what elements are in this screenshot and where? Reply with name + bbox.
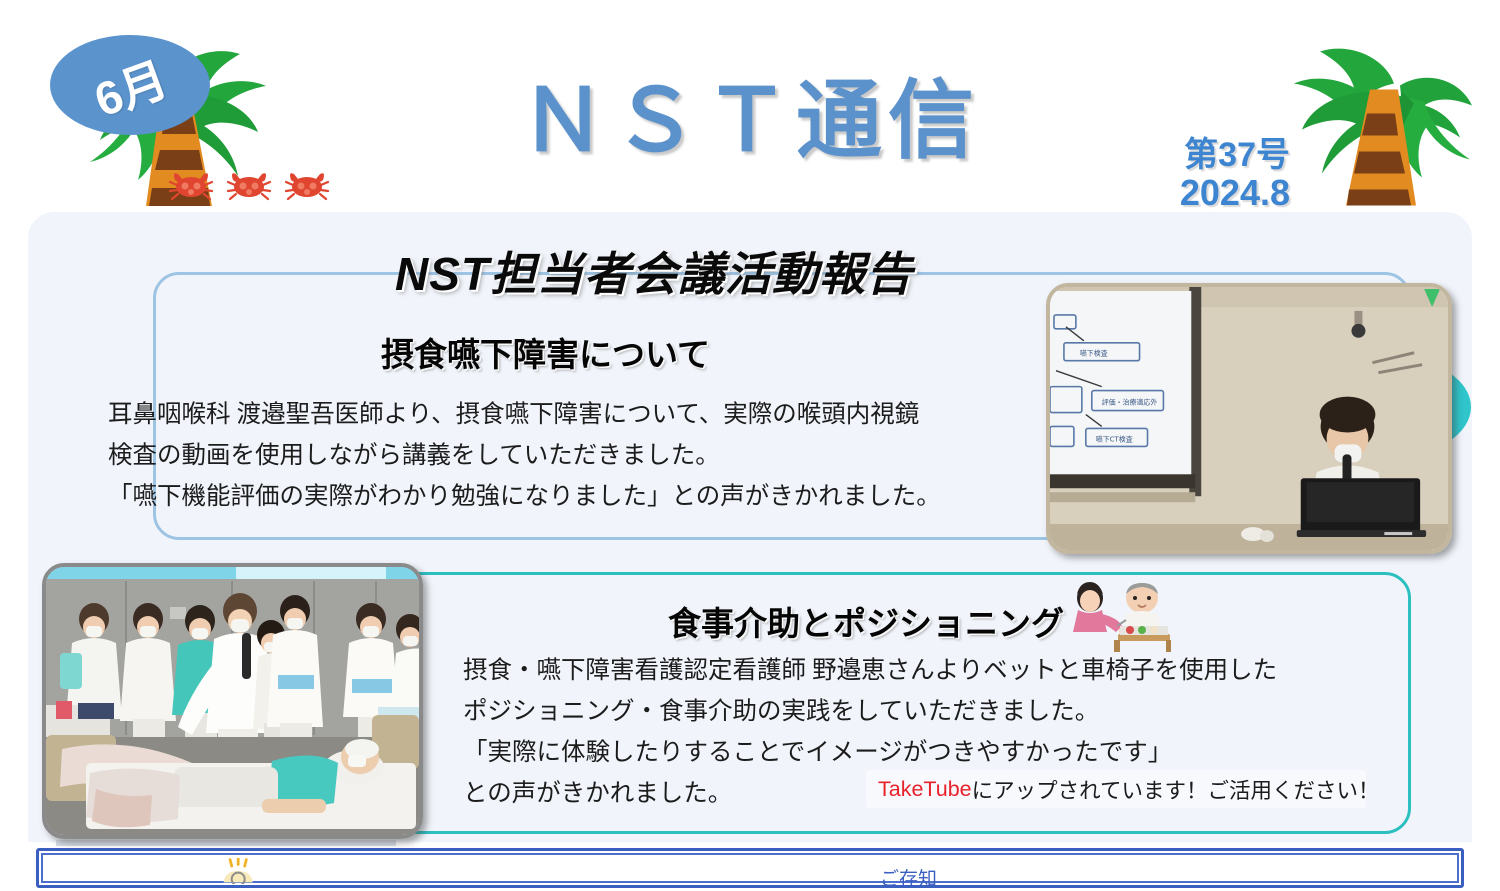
bottom-partial-text: ご存知 (880, 864, 937, 891)
july-body-line: 「実際に体験したりすることでイメージがつきやすかったです」 (463, 732, 1277, 773)
issue-date: 2024.8 (1090, 174, 1290, 212)
feeding-icon (1062, 582, 1172, 654)
panel-edge-strip (56, 840, 396, 846)
issue-number: 第37号 (1090, 138, 1290, 174)
badge-june-label: 6月 (84, 40, 176, 130)
june-lecture-photo: 嚥下検査 評価・治療適応外 嚥下CT検査 (1046, 283, 1452, 554)
newsletter-header: ＮＳＴ通信 第37号 2024.8 (0, 0, 1500, 212)
june-body-line: 「嚥下機能評価の実際がわかり勉強になりました」との声がきかれました。 (108, 476, 941, 517)
taketube-note-text: にアップされています！ご活用ください！ (972, 774, 1380, 805)
taketube-note: TakeTubeにアップされています！ご活用ください！ (866, 770, 1366, 808)
section-title: NST担当者会議活動報告 (395, 238, 913, 304)
svg-text:嚥下CT検査: 嚥下CT検査 (1096, 434, 1133, 443)
taketube-brand: TakeTube (878, 777, 972, 802)
crab-icon (226, 160, 272, 202)
lightbulb-icon (210, 858, 268, 884)
photo-content (46, 567, 419, 835)
crab-icon (284, 160, 330, 202)
crab-icon (168, 160, 214, 202)
lightbulb-idea-icon (210, 858, 268, 889)
june-body-line: 検査の動画を使用しながら講義をしていただきました。 (108, 435, 941, 476)
june-heading: 摂食嚥下障害について (381, 328, 710, 376)
page-title: ＮＳＴ通信 (440, 78, 1060, 164)
svg-text:評価・治療適応外: 評価・治療適応外 (1102, 398, 1158, 407)
july-body-line: ポジショニング・食事介助の実践をしていただきました。 (463, 691, 1277, 732)
crab-decorations (168, 160, 330, 202)
svg-text:嚥下検査: 嚥下検査 (1080, 349, 1108, 358)
june-body-text: 耳鼻咽喉科 渡邉聖吾医師より、摂食嚥下障害について、実際の喉頭内視鏡 検査の動画… (108, 394, 941, 517)
photo-content: 嚥下検査 評価・治療適応外 嚥下CT検査 (1050, 287, 1448, 550)
issue-info: 第37号 2024.8 (1090, 138, 1290, 211)
july-heading: 食事介助とポジショニング (668, 597, 1064, 645)
caregiver-feeding-illustration (1062, 582, 1172, 659)
june-body-line: 耳鼻咽喉科 渡邉聖吾医師より、摂食嚥下障害について、実際の喉頭内視鏡 (108, 394, 941, 435)
badge-june: 6月 (50, 35, 210, 135)
july-training-photo (42, 563, 423, 839)
